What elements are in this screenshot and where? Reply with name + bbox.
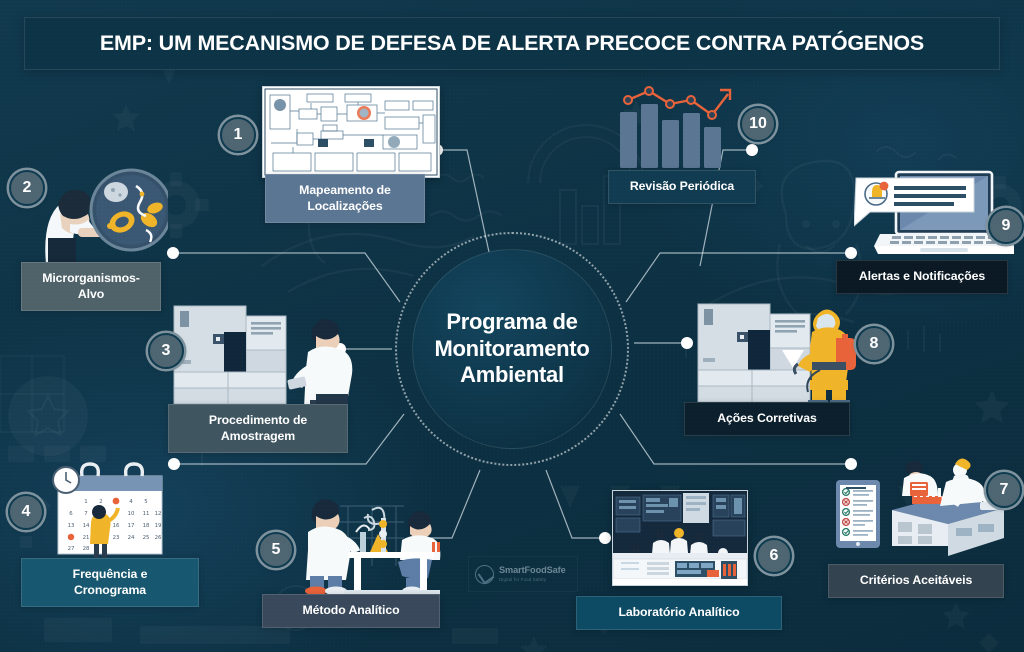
node-2-badge: 2: [9, 170, 45, 206]
svg-text:1: 1: [84, 499, 87, 505]
connector-dot: [681, 337, 693, 349]
svg-text:28: 28: [83, 546, 90, 552]
node-8-label: Ações Corretivas: [684, 402, 850, 436]
node-6-number: 6: [770, 547, 779, 565]
header-bar: EMP: UM MECANISMO DE DEFESA DE ALERTA PR…: [24, 17, 1000, 70]
node-10-label: Revisão Periódica: [608, 170, 756, 204]
node-3-badge: 3: [148, 333, 184, 369]
hub-label-line-3: Ambiental: [435, 362, 590, 389]
laboratory-room-icon: [612, 490, 748, 586]
node-4-label: Frequência e Cronograma: [21, 558, 199, 607]
node-5-label: Método Analítico: [262, 594, 440, 628]
node-10-number: 10: [749, 115, 767, 133]
laboratory-room-scene: [613, 491, 747, 585]
svg-text:17: 17: [128, 523, 135, 529]
svg-text:2: 2: [99, 499, 102, 505]
connector-dot: [746, 144, 758, 156]
node-9-number: 9: [1002, 217, 1011, 235]
bar-chart-trend-icon: [616, 82, 736, 170]
node-7-badge: 7: [986, 472, 1022, 508]
svg-text:11: 11: [143, 511, 150, 517]
node-6-badge: 6: [756, 538, 792, 574]
node-5-badge: 5: [258, 532, 294, 568]
svg-text:26: 26: [155, 535, 162, 541]
svg-text:19: 19: [155, 523, 162, 529]
hub-label-line-2: Monitoramento: [435, 336, 590, 363]
svg-text:27: 27: [68, 546, 75, 552]
node-2-number: 2: [23, 179, 32, 197]
svg-text:13: 13: [68, 523, 75, 529]
logo-tagline: Digital for Food Safety: [499, 578, 566, 582]
node-1-badge: 1: [220, 117, 256, 153]
logo-name: SmartFoodSafe: [499, 566, 566, 575]
hub-label: Programa de Monitoramento Ambiental: [435, 309, 590, 389]
node-5-number: 5: [272, 541, 281, 559]
node-4-number: 4: [22, 503, 31, 521]
page-title: EMP: UM MECANISMO DE DEFESA DE ALERTA PR…: [100, 31, 924, 56]
hub-label-line-1: Programa de: [435, 309, 590, 336]
svg-text:18: 18: [143, 523, 150, 529]
node-7-number: 7: [1000, 481, 1009, 499]
infographic-canvas: EMP: UM MECANISMO DE DEFESA DE ALERTA PR…: [0, 0, 1024, 652]
node-4-badge: 4: [8, 494, 44, 530]
node-8-number: 8: [870, 335, 879, 353]
node-8-badge: 8: [856, 326, 892, 362]
svg-text:12: 12: [155, 511, 162, 517]
laptop-alert-icon: [854, 168, 1014, 260]
node-1-label: Mapeamento de Localizações: [265, 174, 425, 223]
node-10-badge: 10: [740, 106, 776, 142]
connector-dot: [168, 458, 180, 470]
node-7-label: Critérios Aceitáveis: [828, 564, 1004, 598]
lab-bench-icon: [286, 488, 444, 598]
node-9-badge: 9: [988, 208, 1024, 244]
svg-text:23: 23: [113, 535, 120, 541]
sanitation-worker-icon: [694, 300, 860, 406]
svg-text:14: 14: [83, 523, 90, 529]
svg-text:7: 7: [84, 511, 87, 517]
facility-map-diagram: [263, 87, 439, 177]
checklist-tablet-icon: [832, 456, 1004, 568]
calendar-clock-icon: 12345 6789101112 13141516171819 20212223…: [48, 460, 168, 566]
node-6-label: Laboratório Analítico: [576, 596, 782, 630]
node-3-number: 3: [162, 342, 171, 360]
svg-text:4: 4: [129, 499, 133, 505]
svg-text:5: 5: [144, 499, 147, 505]
svg-text:25: 25: [143, 535, 150, 541]
svg-text:21: 21: [83, 535, 90, 541]
node-2-label: Microrganismos-Alvo: [21, 262, 161, 311]
svg-text:16: 16: [113, 523, 120, 529]
hub-center: Programa de Monitoramento Ambiental: [412, 249, 612, 449]
svg-text:6: 6: [69, 511, 73, 517]
smartfoodsafe-logo: SmartFoodSafe Digital for Food Safety: [468, 556, 578, 592]
svg-text:24: 24: [128, 535, 135, 541]
facility-map-icon: [262, 86, 440, 178]
connector-dot: [167, 247, 179, 259]
node-3-label: Procedimento de Amostragem: [168, 404, 348, 453]
connector-dot: [599, 532, 611, 544]
sampling-technician-icon: [170, 302, 358, 410]
node-1-number: 1: [234, 126, 243, 144]
svg-text:10: 10: [128, 511, 135, 517]
logo-mark-icon: [475, 565, 494, 584]
node-9-label: Alertas e Notificações: [836, 260, 1008, 294]
